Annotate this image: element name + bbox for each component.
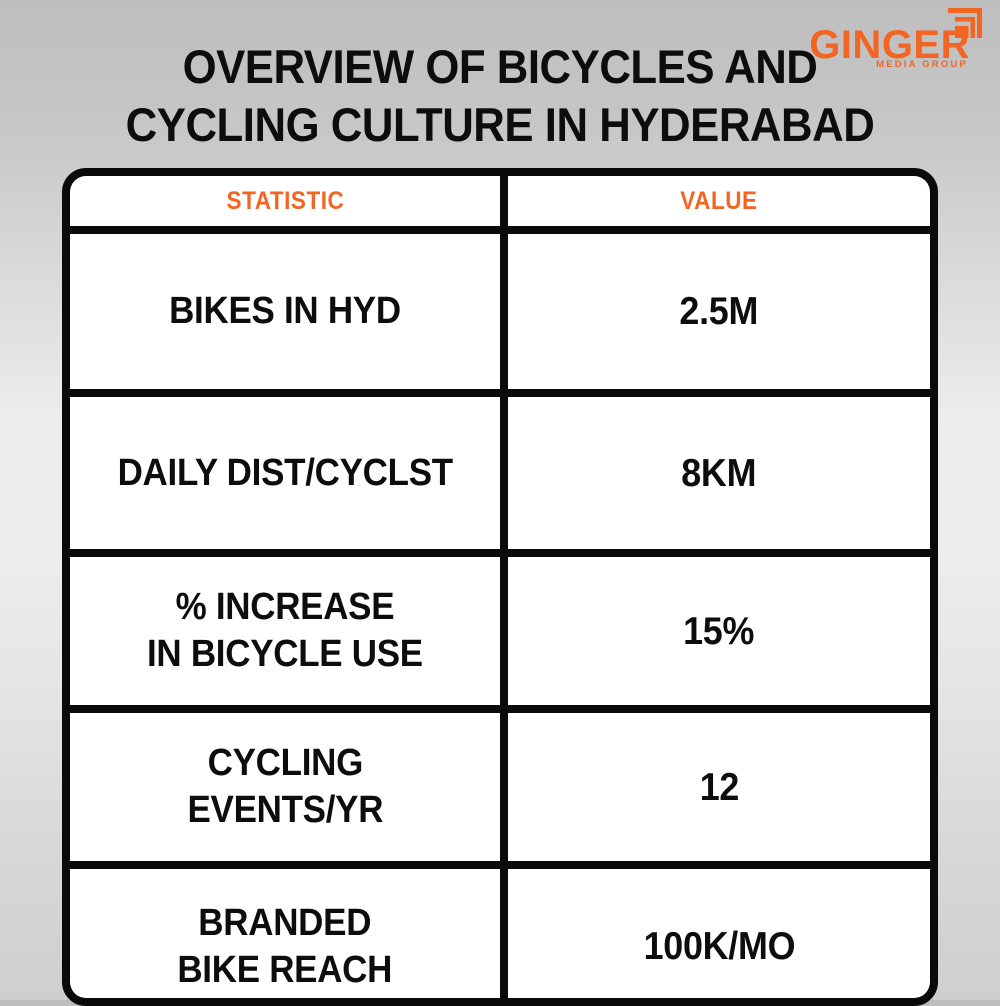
- row-statistic-label: BRANDED BIKE REACH: [178, 900, 393, 994]
- row-statistic-cell: BRANDED BIKE REACH: [70, 869, 500, 1006]
- row-value-label: 8KM: [682, 450, 757, 497]
- row-value-cell: 8KM: [508, 397, 930, 549]
- row-statistic-cell: CYCLING EVENTS/YR: [70, 713, 500, 861]
- row-statistic-cell: % INCREASE IN BICYCLE USE: [70, 557, 500, 705]
- row-statistic-label: BIKES IN HYD: [169, 288, 401, 335]
- row-statistic-label: CYCLING EVENTS/YR: [187, 740, 383, 834]
- infographic-page: GINGER MEDIA GROUP OVERVIEW OF BICYCLES …: [0, 0, 1000, 1000]
- row-statistic-cell: BIKES IN HYD: [70, 234, 500, 389]
- row-statistic-label: % INCREASE IN BICYCLE USE: [147, 584, 423, 678]
- row-value-cell: 15%: [508, 557, 930, 705]
- column-header-statistic-label: STATISTIC: [226, 187, 344, 216]
- table-row: DAILY DIST/CYCLST 8KM: [70, 397, 930, 549]
- row-value-label: 2.5M: [680, 288, 759, 335]
- page-title-line-1: OVERVIEW OF BICYCLES AND: [35, 38, 965, 96]
- row-value-cell: 12: [508, 713, 930, 861]
- column-header-value-label: VALUE: [680, 187, 757, 216]
- statistics-table: STATISTIC VALUE BIKES IN HYD 2.5M DAILY …: [62, 168, 938, 1006]
- table-row: BIKES IN HYD 2.5M: [70, 234, 930, 389]
- row-value-label: 100K/MO: [643, 923, 795, 970]
- column-header-value: VALUE: [508, 176, 930, 226]
- row-value-cell: 100K/MO: [508, 869, 930, 1006]
- row-value-label: 15%: [683, 608, 754, 655]
- table-row: CYCLING EVENTS/YR 12: [70, 713, 930, 861]
- table-row: BRANDED BIKE REACH 100K/MO: [70, 869, 930, 1006]
- page-title-line-2: CYCLING CULTURE IN HYDERABAD: [35, 96, 965, 154]
- table-row: % INCREASE IN BICYCLE USE 15%: [70, 557, 930, 705]
- page-title: OVERVIEW OF BICYCLES AND CYCLING CULTURE…: [35, 38, 965, 154]
- row-value-label: 12: [699, 764, 738, 811]
- row-statistic-label: DAILY DIST/CYCLST: [117, 450, 452, 497]
- table-header-row: STATISTIC VALUE: [70, 176, 930, 226]
- row-statistic-cell: DAILY DIST/CYCLST: [70, 397, 500, 549]
- column-header-statistic: STATISTIC: [70, 176, 500, 226]
- row-value-cell: 2.5M: [508, 234, 930, 389]
